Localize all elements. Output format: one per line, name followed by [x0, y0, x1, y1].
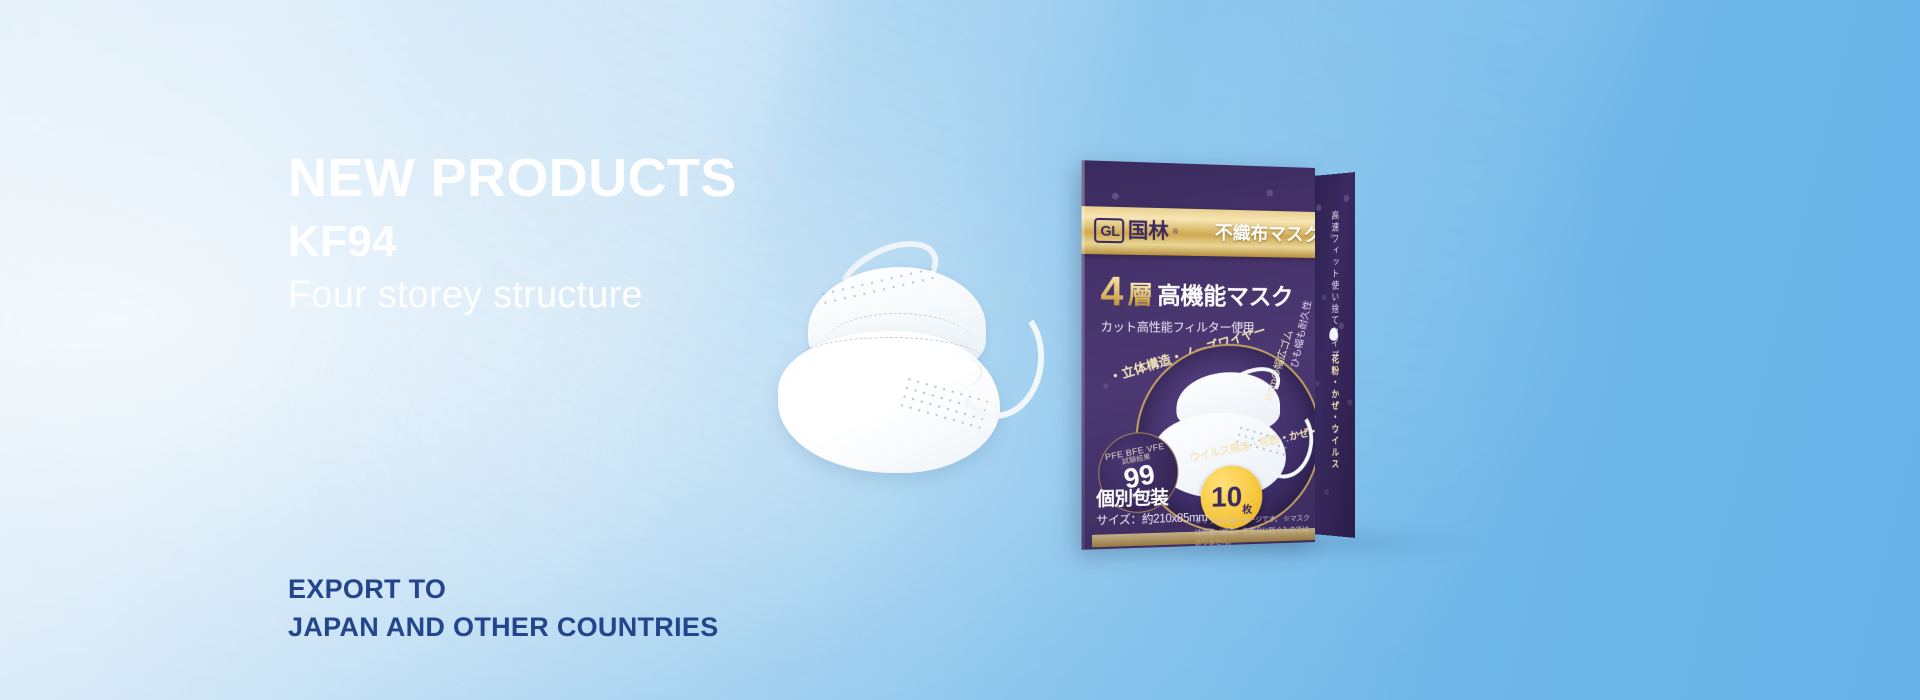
banner-headline: NEW PRODUCTS [288, 150, 1048, 207]
export-line-2: JAPAN AND OTHER COUNTRIES [288, 608, 1188, 646]
brand-mark-gl: GL [1094, 218, 1125, 244]
box-title-row: 4 層 高機能マスク [1100, 273, 1311, 312]
box-side-petal-icon [1329, 328, 1338, 341]
box-side-panel: 高速フィット使い捨てタイプ 花粉・かぜ・ウイルス [1313, 172, 1355, 538]
pack-count-number: 10 [1211, 483, 1242, 512]
mask-seam-dots [818, 264, 939, 309]
export-statement: EXPORT TO JAPAN AND OTHER COUNTRIES [288, 570, 1188, 647]
box-size-text: サイズ：約210x85mm [1096, 509, 1207, 529]
brand-logo: GL 国林 ® [1094, 218, 1178, 245]
individual-pack-label: 個別包装 [1096, 483, 1168, 512]
box-layers-unit: 層 [1128, 283, 1154, 309]
box-side-bottom-text: 花粉・かぜ・ウイルス [1328, 354, 1339, 471]
export-line-1: EXPORT TO [288, 570, 1188, 608]
brand-name-cn: 国林 [1128, 221, 1169, 242]
box-gold-header-band: GL 国林 ® 不織布マスク [1082, 206, 1315, 258]
promo-banner: NEW PRODUCTS KF94 Four storey structure … [0, 0, 1920, 700]
box-main-title: 高機能マスク [1157, 284, 1293, 309]
kf94-mask-product-image [770, 245, 1060, 485]
pack-count-unit: 枚 [1242, 501, 1252, 516]
registered-trademark-icon: ® [1173, 228, 1178, 235]
product-package-box: 高速フィット使い捨てタイプ 花粉・かぜ・ウイルス GL 国林 ® 不織布マスク … [1075, 158, 1585, 562]
box-layers-number: 4 [1100, 273, 1123, 311]
box-front-panel: GL 国林 ® 不織布マスク 4 層 高機能マスク カット高性能フィルター使用 … [1082, 160, 1315, 550]
box-band-text: 不織布マスク [1215, 224, 1315, 244]
